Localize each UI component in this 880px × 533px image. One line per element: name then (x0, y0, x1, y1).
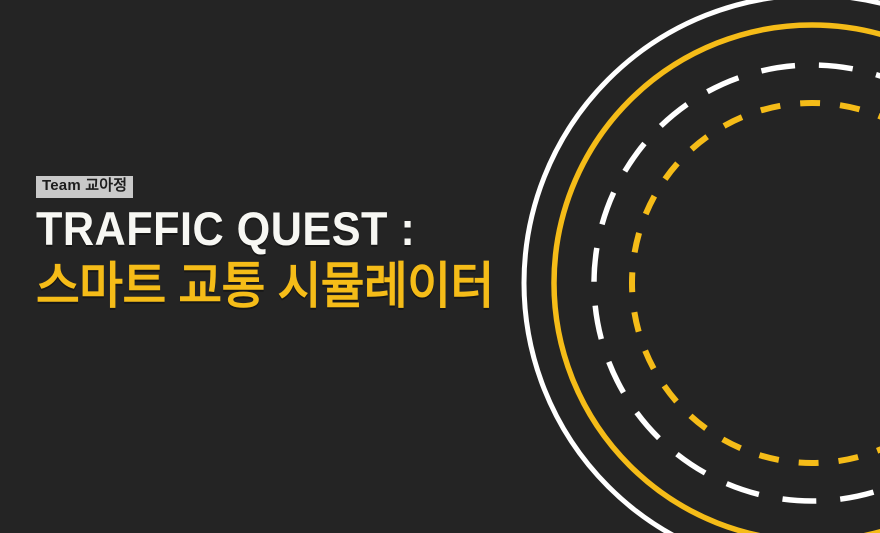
team-badge: Team 교아정 (36, 176, 133, 198)
page-subtitle: 스마트 교통 시뮬레이터 (36, 261, 494, 311)
road-arc-white-dashed (594, 65, 880, 501)
road-arc-yellow-solid (554, 25, 880, 533)
road-arc-yellow-dashed (632, 103, 880, 463)
road-arc-outer-white-solid (524, 0, 880, 533)
page-title: TRAFFIC QUEST : (36, 205, 479, 252)
presentation-title-slide: Team 교아정 TRAFFIC QUEST : 스마트 교통 시뮬레이터 (0, 0, 880, 533)
title-block: Team 교아정 TRAFFIC QUEST : 스마트 교통 시뮬레이터 (36, 176, 518, 311)
